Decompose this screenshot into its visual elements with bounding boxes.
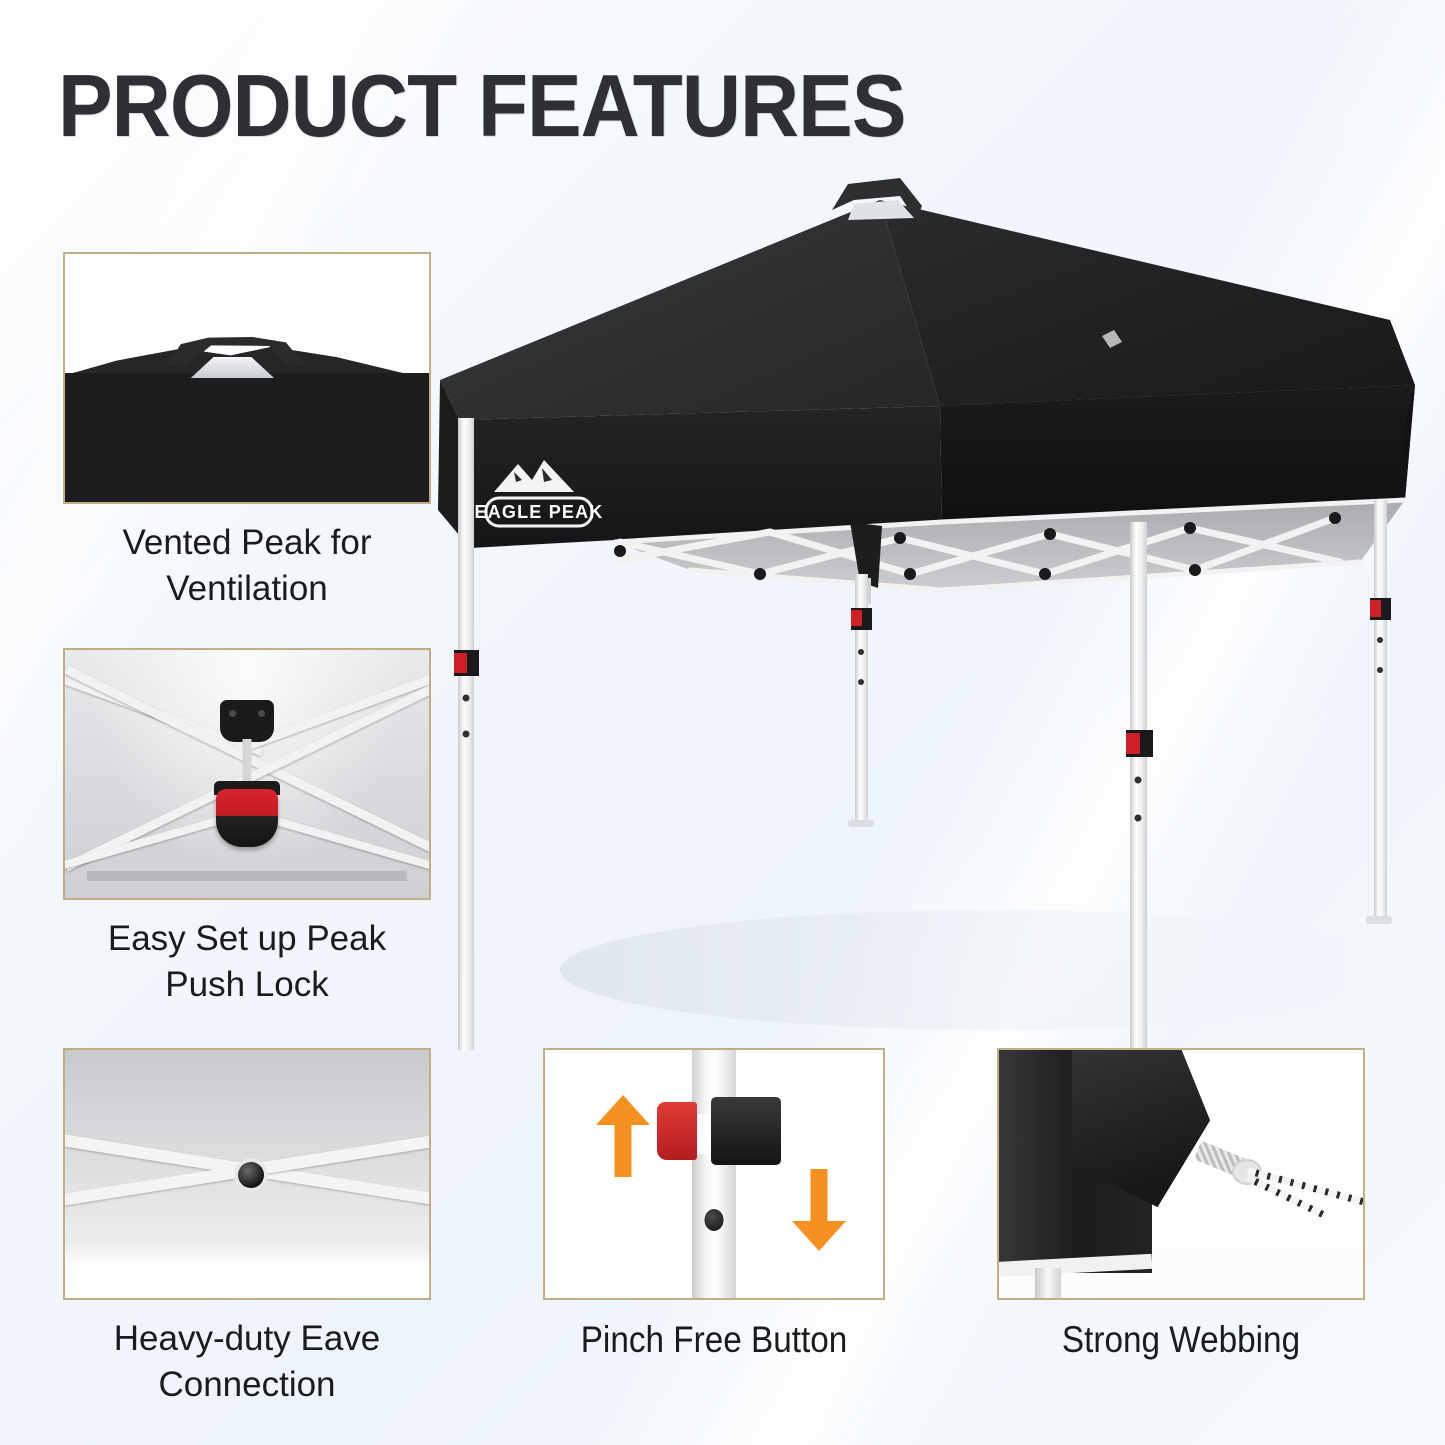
peak-hub-icon	[220, 700, 274, 742]
button-collar-icon	[711, 1097, 781, 1165]
push-lock-illustration	[65, 650, 429, 898]
pinch-button-illustration	[545, 1050, 883, 1298]
feature-thumb-pinch-free-button	[543, 1048, 885, 1300]
feature-thumb-strong-webbing	[997, 1048, 1365, 1300]
feature-thumb-eave-connection	[63, 1048, 431, 1300]
feature-card-pinch-free-button: Pinch Free Button	[543, 1048, 885, 1364]
feature-caption-eave-connection: Heavy-duty Eave Connection	[63, 1316, 431, 1407]
arrow-up-icon	[596, 1095, 650, 1177]
push-lock-knob-icon	[216, 789, 278, 847]
feature-card-peak-push-lock: Easy Set up Peak Push Lock	[63, 648, 431, 1007]
feature-thumb-vented-peak	[63, 252, 431, 504]
feature-thumb-peak-push-lock	[63, 648, 431, 900]
leg-back-right	[1366, 500, 1392, 924]
eave-connection-illustration	[65, 1050, 429, 1298]
vent-opening	[848, 200, 914, 220]
feature-card-eave-connection: Heavy-duty Eave Connection	[63, 1048, 431, 1407]
page-title: PRODUCT FEATURES	[58, 62, 905, 150]
feature-caption-peak-push-lock: Easy Set up Peak Push Lock	[63, 916, 431, 1007]
vented-peak-illustration	[65, 254, 429, 502]
pole-hole-icon	[705, 1209, 724, 1231]
feature-caption-pinch-free-button: Pinch Free Button	[560, 1316, 868, 1364]
feature-card-strong-webbing: Strong Webbing	[997, 1048, 1365, 1364]
infographic-page: PRODUCT FEATURES	[0, 0, 1445, 1445]
hero-canopy-image: EAGLE PEAK	[430, 170, 1430, 1050]
roof-panel-left	[440, 200, 940, 420]
eave-hub-icon	[238, 1162, 264, 1188]
feature-card-vented-peak: Vented Peak for Ventilation	[63, 252, 431, 611]
feature-caption-strong-webbing: Strong Webbing	[1015, 1316, 1346, 1364]
leg-back-left	[848, 574, 874, 827]
canopy-illustration: EAGLE PEAK	[430, 170, 1430, 1050]
arrow-down-icon	[792, 1169, 846, 1251]
brand-logo-text: EAGLE PEAK	[474, 502, 603, 522]
strong-webbing-illustration	[999, 1050, 1363, 1298]
ground-shadow	[560, 910, 1420, 1030]
roof-panel-right	[880, 200, 1415, 406]
feature-caption-vented-peak: Vented Peak for Ventilation	[63, 520, 431, 611]
red-push-button-icon	[657, 1102, 697, 1160]
